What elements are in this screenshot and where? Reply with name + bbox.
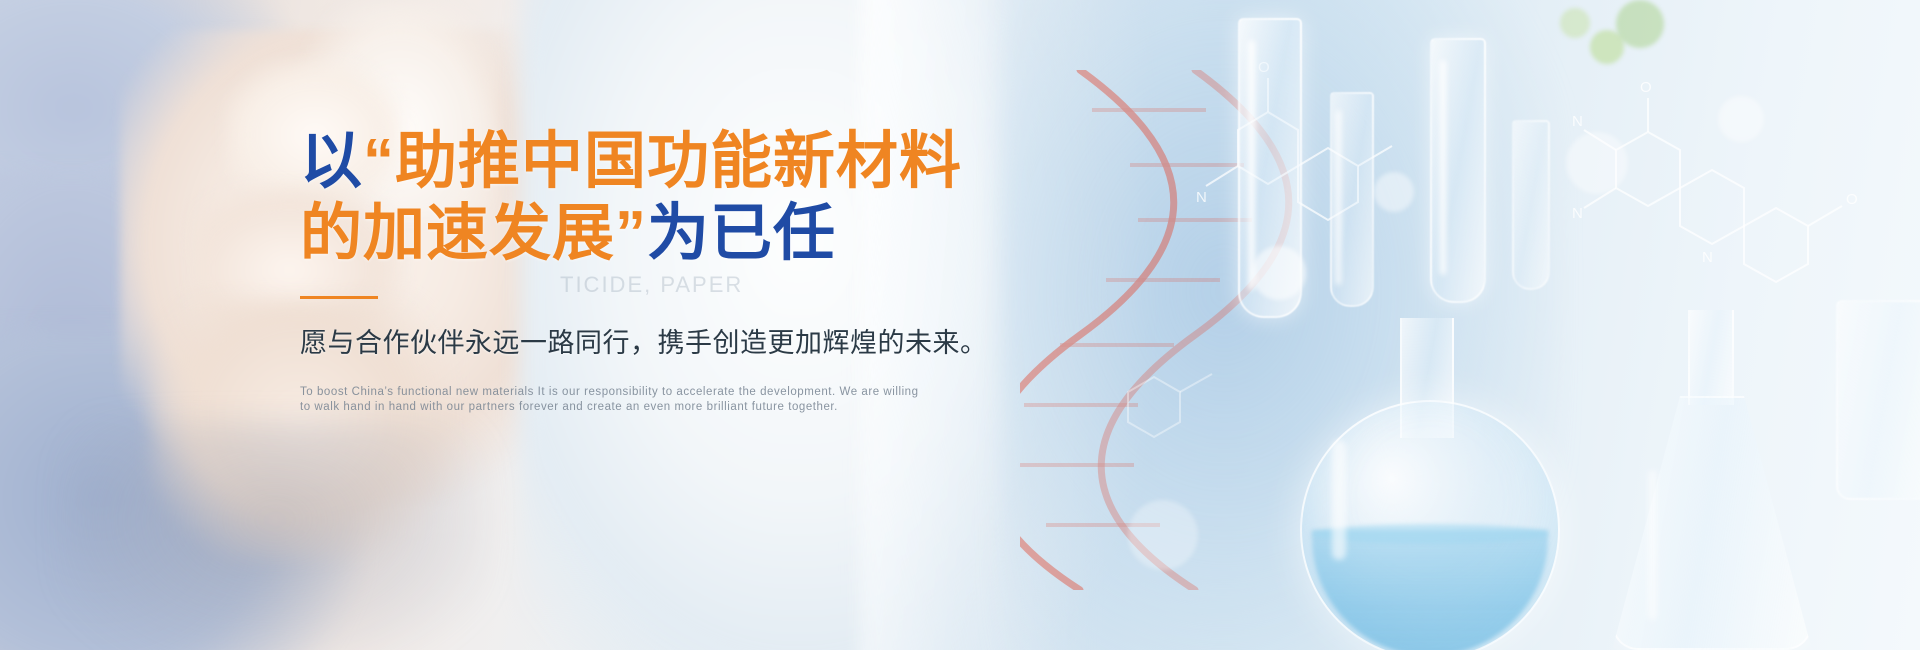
divider-rule	[300, 296, 378, 299]
headline-line-1-orange: “助推中国功能新材料	[363, 127, 962, 196]
english-caption-line-1: To boost China’s functional new material…	[300, 385, 1200, 400]
bokeh-2	[1374, 172, 1414, 212]
bokeh-green-2	[1616, 0, 1664, 48]
bokeh-5	[1128, 500, 1198, 570]
headline-line-2: 的加速发展”为已任	[300, 198, 1200, 270]
glass-highlight-4	[1332, 440, 1346, 560]
handshake-shadow	[60, 420, 490, 650]
glass-highlight-5	[1648, 470, 1657, 620]
test-tube-small	[1512, 120, 1550, 290]
hero-banner: O N O N N O N TICIDE, PAPER 以“助推中国功能新材料	[0, 0, 1920, 650]
hero-copy-block: 以“助推中国功能新材料 的加速发展”为已任 愿与合作伙伴永远一路同行，携手创造更…	[300, 126, 1200, 415]
bokeh-green-3	[1560, 8, 1590, 38]
headline-line-2-orange: 的加速发展”	[300, 199, 647, 268]
conical-flask-neck	[1688, 310, 1734, 405]
test-tube-tall-second	[1430, 38, 1486, 303]
bokeh-4	[1718, 96, 1764, 142]
beaker-far-right	[1836, 300, 1920, 500]
subtitle-text: 愿与合作伙伴永远一路同行，携手创造更加辉煌的未来。	[300, 325, 1200, 361]
glass-highlight-2	[1440, 60, 1446, 275]
english-caption-block: To boost China’s functional new material…	[300, 385, 1200, 415]
glass-highlight-3	[1336, 110, 1341, 285]
headline-line-1: 以“助推中国功能新材料	[300, 126, 1200, 198]
round-flask-liquid-surface	[1312, 524, 1548, 544]
headline-line-2-blue: 为已任	[647, 199, 836, 268]
glass-highlight-1	[1248, 40, 1255, 290]
headline-line-1-blue: 以	[300, 127, 363, 196]
bokeh-3	[1566, 132, 1628, 194]
bokeh-1	[1252, 246, 1306, 300]
english-caption-line-2: to walk hand in hand with our partners f…	[300, 400, 1200, 415]
